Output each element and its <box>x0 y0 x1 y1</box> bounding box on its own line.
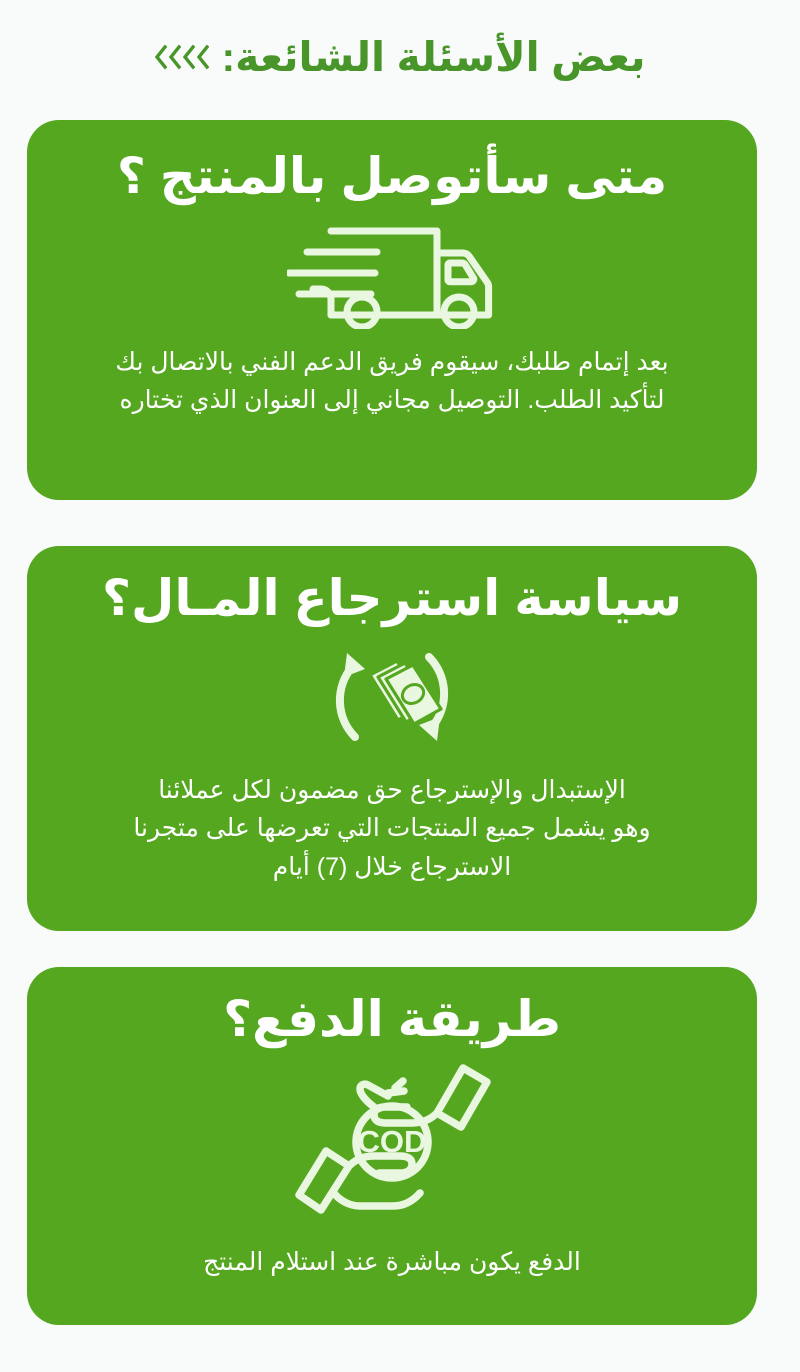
cash-on-delivery-icon: COD <box>277 1052 507 1227</box>
body-line: الإستبدال والإسترجاع حق مضمون لكل عملائن… <box>71 771 713 810</box>
faq-card-delivery[interactable]: متى سأتوصل بالمنتج ؟ <box>27 120 757 500</box>
money-refund-icon <box>317 633 467 761</box>
faq-infographic: بعض الأسئلة الشائعة: متى سأتوصل بالمنتج … <box>0 0 800 1372</box>
faq-card-body: بعد إتمام طلبك، سيقوم فريق الدعم الفني ب… <box>27 343 757 421</box>
body-line: الدفع يكون مباشرة عند استلام المنتج <box>89 1243 695 1282</box>
cod-label: COD <box>358 1124 427 1159</box>
page-title: بعض الأسئلة الشائعة: <box>221 37 645 78</box>
faq-card-payment[interactable]: طريقة الدفع؟ COD <box>27 967 757 1325</box>
faq-card-title: طريقة الدفع؟ <box>223 993 561 1046</box>
body-line: بعد إتمام طلبك، سيقوم فريق الدعم الفني ب… <box>103 343 681 382</box>
delivery-truck-icon <box>287 219 497 329</box>
faq-card-title: متى سأتوصل بالمنتج ؟ <box>117 150 667 203</box>
faq-card-title: سياسة استرجاع المـال؟ <box>102 572 682 625</box>
body-line: الاسترجاع خلال (7) أيام <box>71 848 713 887</box>
chevrons-left-icon <box>154 43 209 71</box>
body-line: وهو يشمل جميع المنتجات التي تعرضها على م… <box>71 809 713 848</box>
faq-card-body: الدفع يكون مباشرة عند استلام المنتج <box>27 1243 757 1282</box>
faq-header: بعض الأسئلة الشائعة: <box>0 0 800 108</box>
body-line: لتأكيد الطلب. التوصيل مجاني إلى العنوان … <box>103 381 681 420</box>
faq-card-refund[interactable]: سياسة استرجاع المـال؟ <box>27 546 757 931</box>
faq-card-body: الإستبدال والإسترجاع حق مضمون لكل عملائن… <box>27 771 757 887</box>
